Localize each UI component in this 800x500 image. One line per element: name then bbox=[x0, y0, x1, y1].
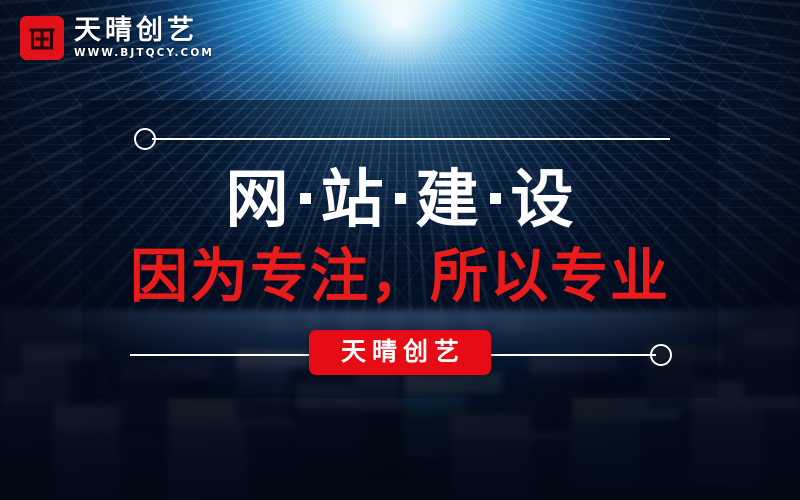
headline-char-4: 设 bbox=[511, 163, 575, 236]
promo-banner: 天晴创艺 WWW.BJTQCY.COM 网站建设 因为专注，所以专业 天晴创艺 bbox=[0, 0, 800, 500]
site-logo[interactable]: 天晴创艺 WWW.BJTQCY.COM bbox=[20, 16, 214, 60]
square-dot-separator-icon bbox=[300, 193, 311, 204]
logo-website-url: WWW.BJTQCY.COM bbox=[74, 47, 214, 59]
square-dot-separator-icon bbox=[395, 193, 406, 204]
headline-char-2: 站 bbox=[321, 163, 385, 236]
subheadline: 因为专注，所以专业 bbox=[0, 247, 800, 305]
logo-text-block: 天晴创艺 WWW.BJTQCY.COM bbox=[74, 17, 214, 59]
logo-company-name: 天晴创艺 bbox=[74, 17, 214, 45]
tqcy-monogram-icon bbox=[20, 16, 64, 60]
headline: 网站建设 bbox=[0, 168, 800, 231]
headline-char-1: 网 bbox=[226, 163, 290, 236]
brand-badge: 天晴创艺 bbox=[309, 330, 491, 375]
bottom-left-divider-rule bbox=[130, 354, 320, 356]
bottom-right-circle-node bbox=[650, 344, 672, 366]
headline-char-3: 建 bbox=[416, 163, 480, 236]
top-divider-rule bbox=[152, 138, 670, 140]
top-left-circle-node bbox=[134, 128, 156, 150]
bottom-right-divider-rule bbox=[484, 354, 656, 356]
square-dot-separator-icon bbox=[490, 193, 501, 204]
